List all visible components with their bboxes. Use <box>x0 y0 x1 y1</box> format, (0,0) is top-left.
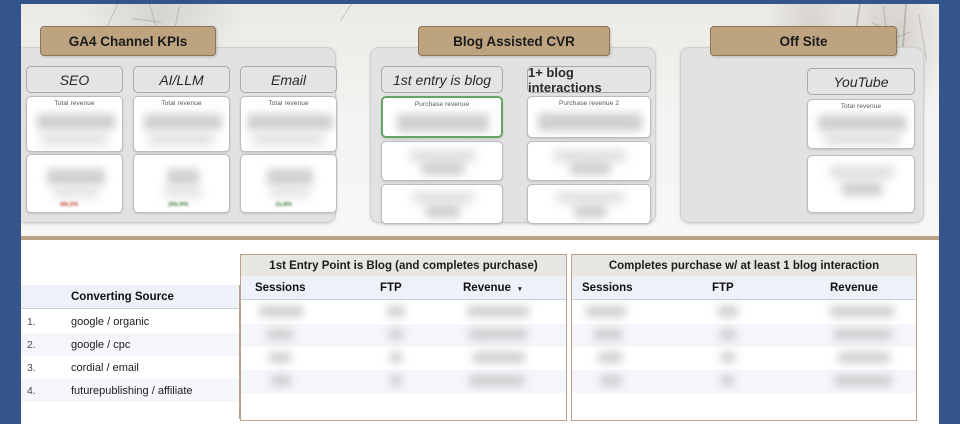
channel-label-email[interactable]: Email <box>240 66 337 93</box>
redacted-value <box>259 306 303 317</box>
redacted-value <box>818 115 906 131</box>
column-header-revenue[interactable]: Revenue ▾ <box>463 282 522 294</box>
redacted-value <box>842 182 882 196</box>
panel-title-off-site: Off Site <box>710 26 897 56</box>
redacted-value <box>387 306 405 317</box>
row-source: cordial / email <box>71 362 139 374</box>
redacted-value <box>830 306 894 317</box>
redacted-value <box>426 205 460 218</box>
delta-email: 15.8% <box>275 202 292 208</box>
redacted-value <box>473 352 525 363</box>
dashboard-frame: GA4 Channel KPIs SEO Total revenue -69.2… <box>0 0 960 424</box>
redacted-value <box>834 375 892 386</box>
table-row[interactable]: 4. futurepublishing / affiliate <box>21 379 239 402</box>
redacted-value <box>247 114 333 130</box>
tables-section: Converting Source 1. google / organic 2.… <box>21 240 939 424</box>
scorecard-blog-first-entry-purchase-revenue[interactable]: Purchase revenue <box>381 96 503 138</box>
redacted-value <box>594 329 622 340</box>
redacted-value <box>389 329 403 340</box>
table-row[interactable] <box>572 347 916 370</box>
table-first-entry-point-is-blog: Sessions FTP Revenue ▾ <box>240 276 567 421</box>
redacted-value <box>556 192 624 203</box>
scorecard-email-comparison[interactable]: 15.8% <box>240 154 337 213</box>
redacted-value <box>574 205 606 218</box>
redacted-value <box>267 329 293 340</box>
delta-seo: -69.2% <box>59 202 78 208</box>
redacted-value <box>720 329 736 340</box>
redacted-value <box>167 169 199 185</box>
redacted-value <box>538 113 642 131</box>
scorecard-label: Purchase revenue 2 <box>528 100 650 107</box>
redacted-value <box>570 162 610 175</box>
row-rank: 3. <box>27 362 36 374</box>
scorecard-email-revenue[interactable]: Total revenue <box>240 96 337 152</box>
redacted-value <box>586 306 626 317</box>
scorecard-blog-first-entry-3[interactable] <box>381 184 503 224</box>
redacted-value <box>253 134 323 145</box>
redacted-value <box>600 375 622 386</box>
redacted-value <box>830 166 894 179</box>
table-row[interactable] <box>572 301 916 324</box>
panel-title-blog-assisted-cvr: Blog Assisted CVR <box>418 26 610 56</box>
scorecard-blog-interactions-purchase-revenue-2[interactable]: Purchase revenue 2 <box>527 96 651 138</box>
table-row[interactable]: 3. cordial / email <box>21 356 239 379</box>
redacted-value <box>390 375 402 386</box>
row-rank: 2. <box>27 339 36 351</box>
scorecard-label: Total revenue <box>808 103 914 110</box>
redacted-value <box>721 352 735 363</box>
row-source: futurepublishing / affiliate <box>71 385 193 397</box>
scorecard-seo-comparison[interactable]: -69.2% <box>26 154 123 213</box>
table-row[interactable] <box>572 324 916 347</box>
scorecard-label: Total revenue <box>134 100 229 107</box>
scorecard-ai-llm-revenue[interactable]: Total revenue <box>133 96 230 152</box>
redacted-value <box>148 134 214 145</box>
scorecard-blog-interactions-3[interactable] <box>527 184 651 224</box>
redacted-value <box>721 375 734 386</box>
redacted-value <box>718 306 738 317</box>
column-header-ftp[interactable]: FTP <box>380 282 402 294</box>
redacted-value <box>410 150 476 162</box>
redacted-value <box>598 352 622 363</box>
dashboard-page: GA4 Channel KPIs SEO Total revenue -69.2… <box>21 4 939 424</box>
table-row[interactable] <box>241 301 566 324</box>
table-row[interactable] <box>241 370 566 393</box>
column-header-sessions[interactable]: Sessions <box>582 282 633 294</box>
scorecard-youtube-total-revenue[interactable]: Total revenue <box>807 99 915 149</box>
table-banner-first-entry-point-is-blog: 1st Entry Point is Blog (and completes p… <box>240 254 567 276</box>
table-converting-source: Converting Source 1. google / organic 2.… <box>21 285 240 419</box>
channel-label-ai-llm[interactable]: AI/LLM <box>133 66 230 93</box>
redacted-value <box>824 133 900 145</box>
row-source: google / cpc <box>71 339 130 351</box>
table-header-row: Converting Source <box>21 285 239 309</box>
row-rank: 1. <box>27 316 36 328</box>
column-header-revenue[interactable]: Revenue <box>830 282 878 294</box>
redacted-value <box>838 352 890 363</box>
sort-descending-icon[interactable]: ▾ <box>518 286 522 293</box>
table-row[interactable]: 2. google / cpc <box>21 333 239 356</box>
column-header-converting-source[interactable]: Converting Source <box>71 291 174 303</box>
redacted-value <box>271 375 291 386</box>
row-rank: 4. <box>27 385 36 397</box>
scorecard-ai-llm-comparison[interactable]: 205.9% <box>133 154 230 213</box>
redacted-value <box>390 352 402 363</box>
scorecard-label: Total revenue <box>27 100 122 107</box>
redacted-value <box>469 375 525 386</box>
table-row[interactable]: 1. google / organic <box>21 310 239 333</box>
redacted-value <box>53 188 99 197</box>
table-header-row: Sessions FTP Revenue <box>572 276 916 300</box>
redacted-value <box>41 134 107 145</box>
scorecard-youtube-comparison[interactable] <box>807 155 915 213</box>
column-header-ftp[interactable]: FTP <box>712 282 734 294</box>
redacted-value <box>422 162 464 175</box>
scorecard-seo-revenue[interactable]: Total revenue <box>26 96 123 152</box>
table-completes-purchase-with-blog-interaction: Sessions FTP Revenue <box>571 276 917 421</box>
redacted-value <box>164 188 202 197</box>
kpi-section: GA4 Channel KPIs SEO Total revenue -69.2… <box>21 4 939 236</box>
redacted-value <box>834 329 892 340</box>
column-header-revenue-label: Revenue <box>463 282 511 294</box>
scorecard-label: Total revenue <box>241 100 336 107</box>
table-row[interactable] <box>241 347 566 370</box>
redacted-value <box>412 192 474 203</box>
redacted-value <box>269 352 291 363</box>
redacted-value <box>397 114 489 132</box>
table-banner-completes-purchase-with-blog-interaction: Completes purchase w/ at least 1 blog in… <box>571 254 917 276</box>
redacted-value <box>144 114 222 130</box>
redacted-value <box>47 169 105 185</box>
redacted-value <box>270 188 310 197</box>
scorecard-label: Purchase revenue <box>383 101 501 108</box>
panel-title-ga4-channel-kpis: GA4 Channel KPIs <box>40 26 216 56</box>
redacted-value <box>37 114 115 130</box>
row-source: google / organic <box>71 316 149 328</box>
table-row[interactable] <box>241 324 566 347</box>
redacted-value <box>469 329 527 340</box>
channel-label-seo[interactable]: SEO <box>26 66 123 93</box>
channel-label-1-plus-blog-interactions[interactable]: 1+ blog interactions <box>527 66 651 93</box>
redacted-value <box>467 306 529 317</box>
delta-ai-llm: 205.9% <box>168 202 188 208</box>
scorecard-blog-interactions-2[interactable] <box>527 141 651 181</box>
redacted-value <box>554 150 626 162</box>
table-row[interactable] <box>572 370 916 393</box>
channel-label-youtube[interactable]: YouTube <box>807 68 915 95</box>
redacted-value <box>267 169 313 185</box>
scorecard-blog-first-entry-2[interactable] <box>381 141 503 181</box>
column-header-sessions[interactable]: Sessions <box>255 282 306 294</box>
channel-label-1st-entry-is-blog[interactable]: 1st entry is blog <box>381 66 503 93</box>
table-header-row: Sessions FTP Revenue ▾ <box>241 276 566 300</box>
